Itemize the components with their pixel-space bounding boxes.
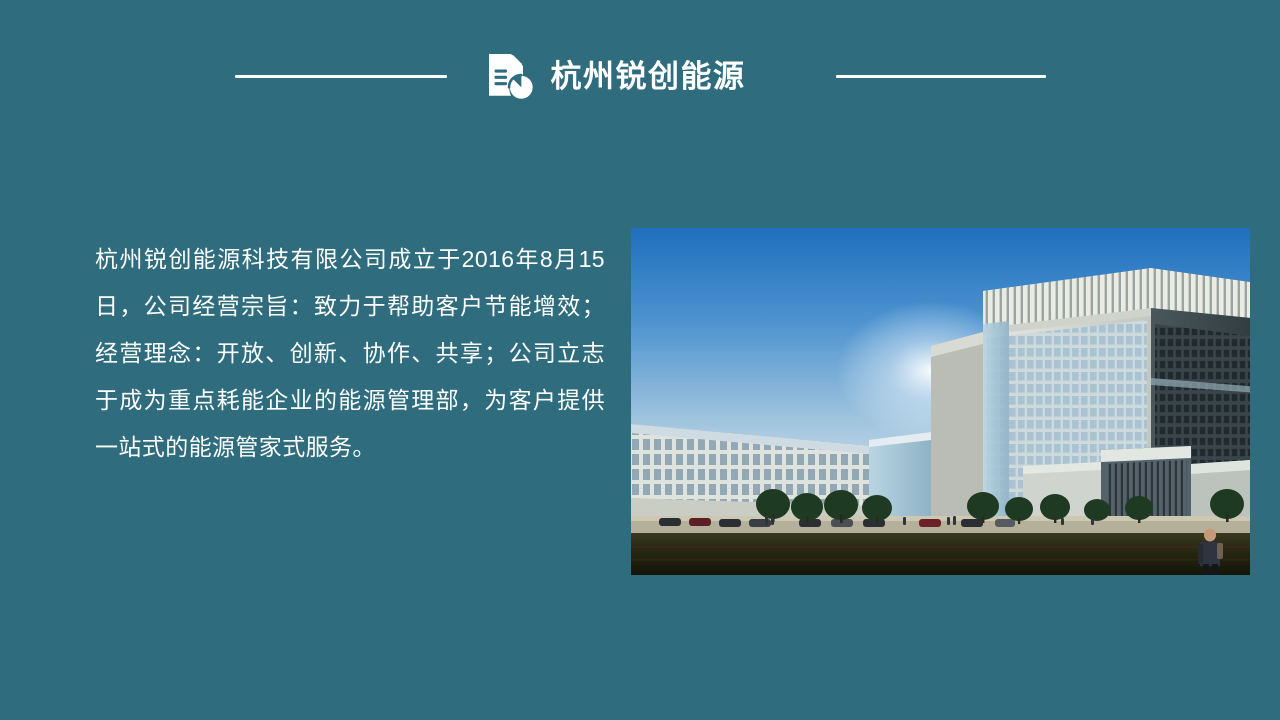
brand-title: 杭州锐创能源: [551, 61, 746, 92]
decorative-rule-left-icon: [235, 75, 447, 78]
slide-header: 杭州锐创能源: [0, 48, 1280, 104]
company-description-text: 杭州锐创能源科技有限公司成立于2016年8月15日，公司经营宗旨：致力于帮助客户…: [95, 236, 605, 471]
office-building-photo: [631, 228, 1250, 575]
decorative-rule-right-icon: [836, 75, 1046, 78]
slide-root: 杭州锐创能源 杭州锐创能源科技有限公司成立于2016年8月15日，公司经营宗旨：…: [0, 0, 1280, 720]
office-building-illustration: [631, 228, 1250, 575]
company-description: 杭州锐创能源科技有限公司成立于2016年8月15日，公司经营宗旨：致力于帮助客户…: [95, 236, 605, 471]
brand-lockup: 杭州锐创能源: [483, 49, 746, 103]
document-chart-icon: [483, 49, 537, 103]
